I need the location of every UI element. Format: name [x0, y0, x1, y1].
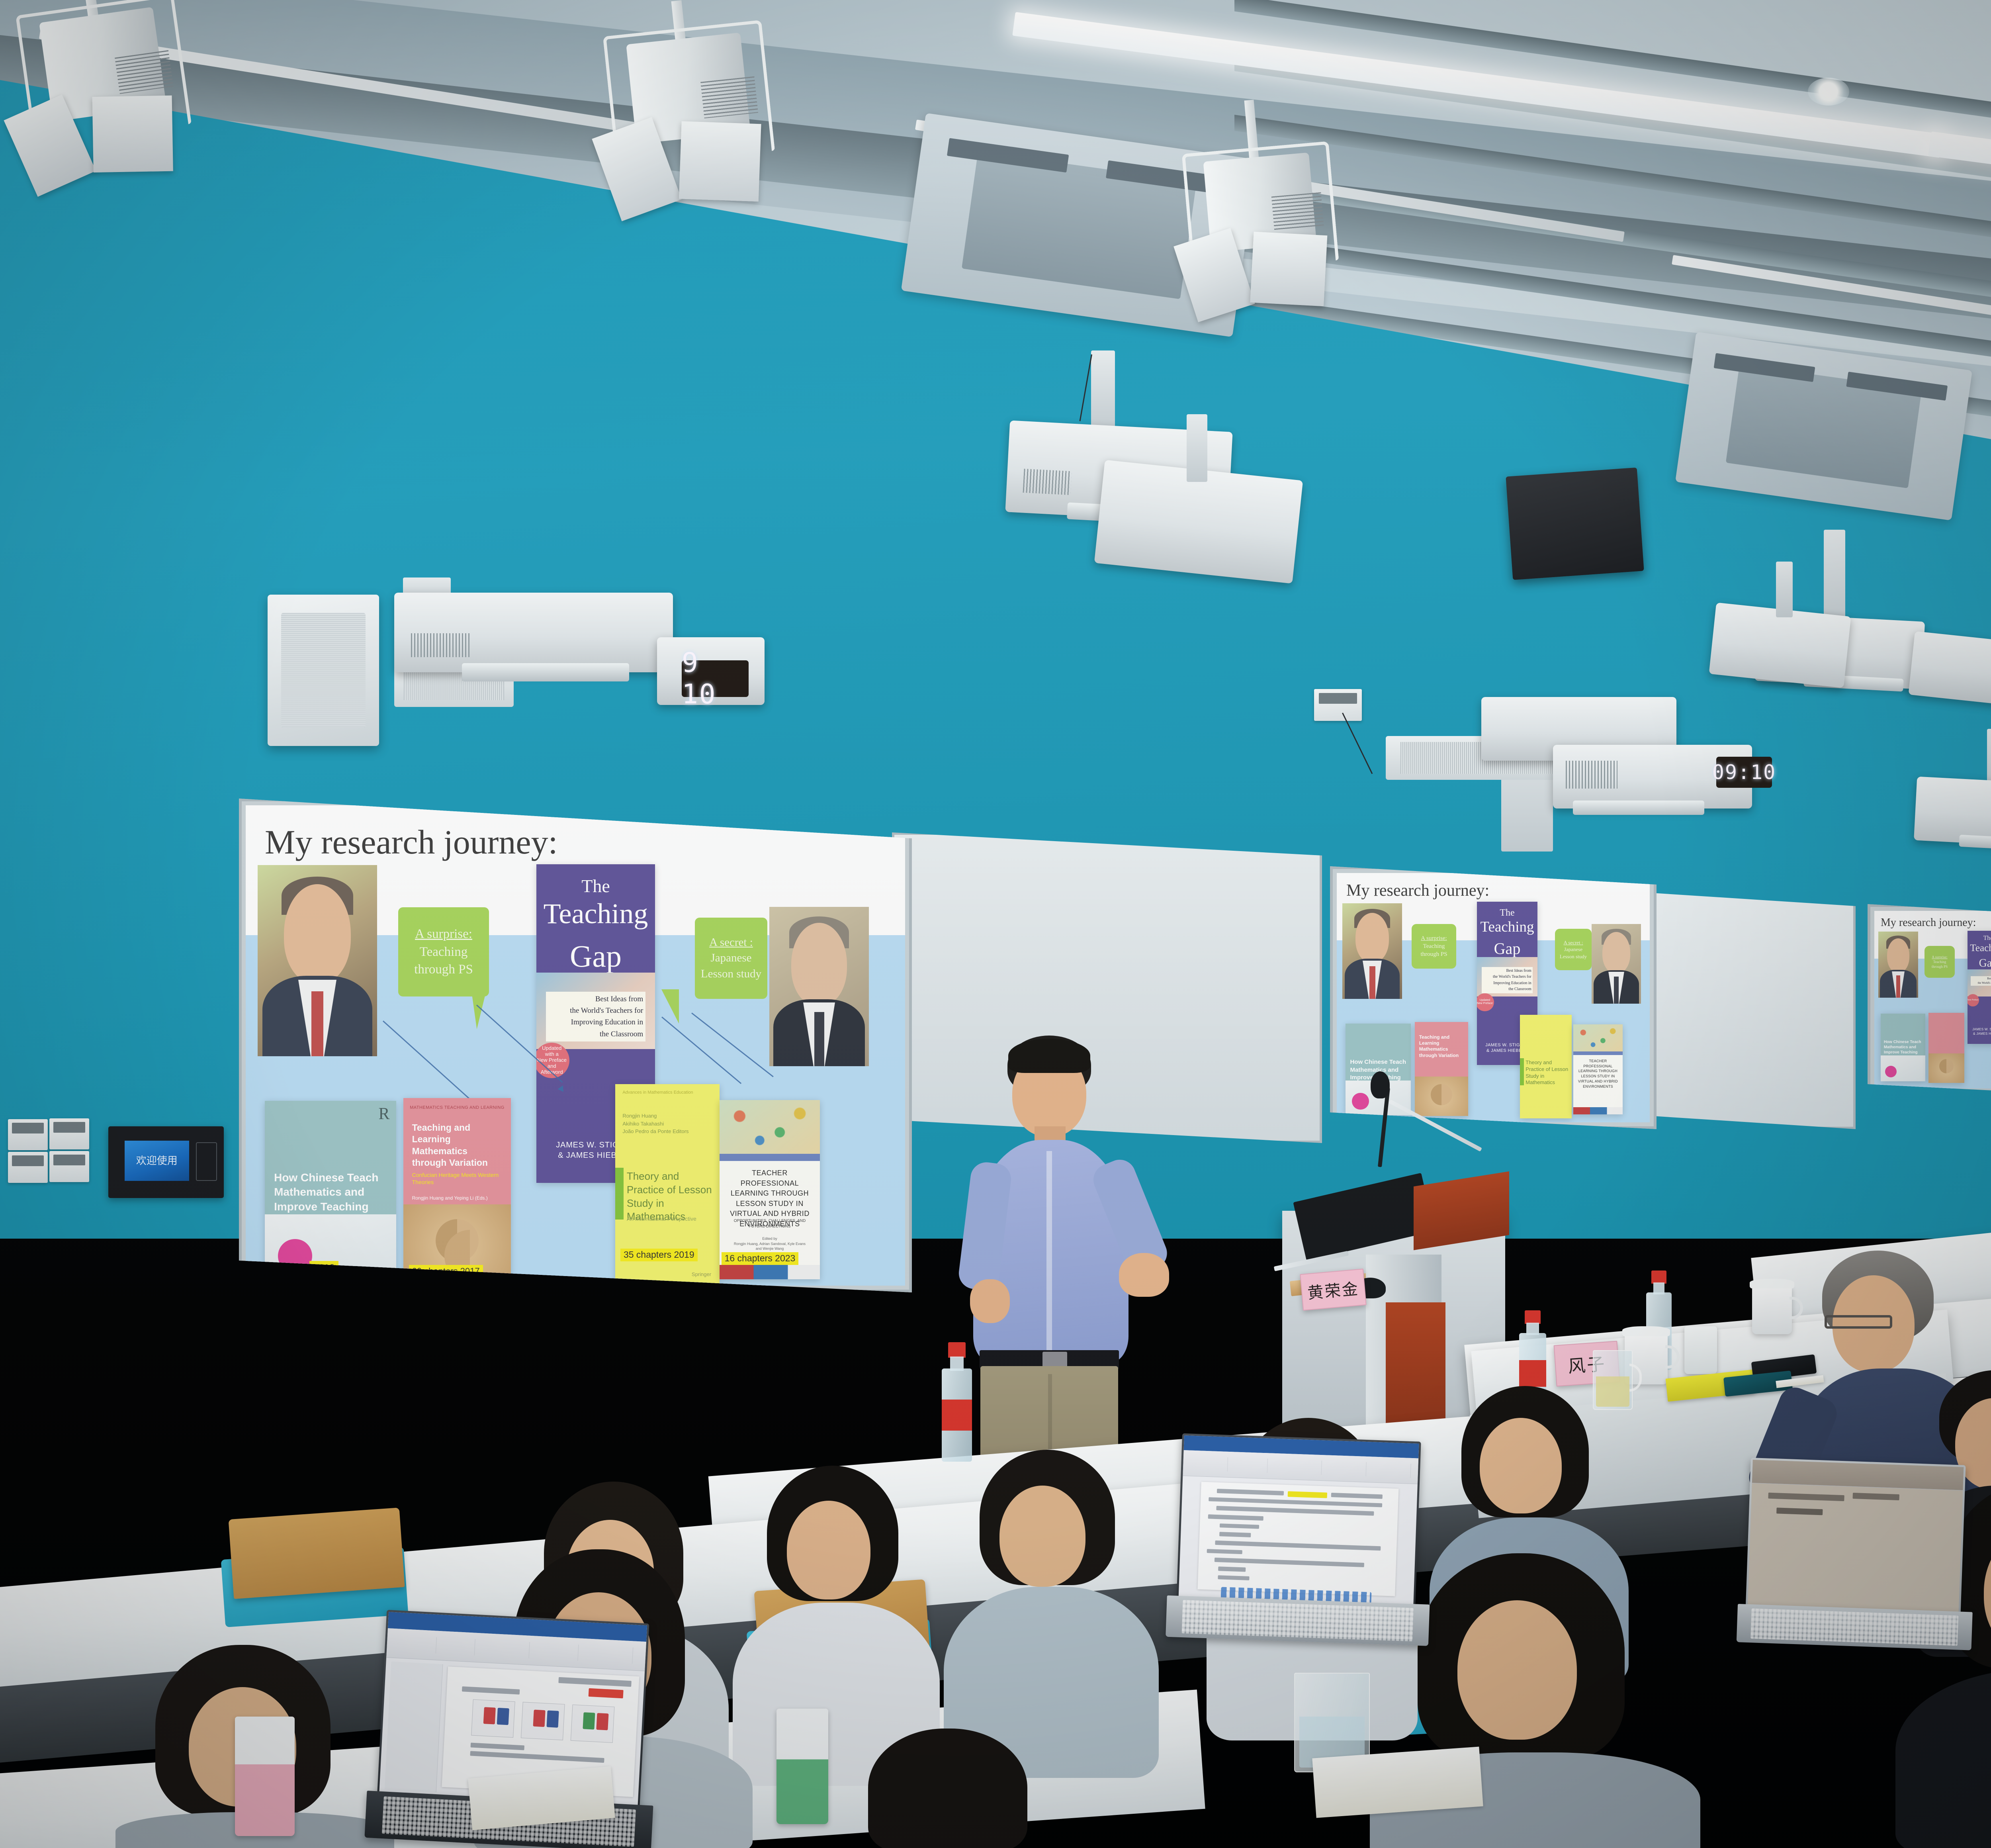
- slide-3-callout-left: A surprise: Teaching through PS: [1925, 946, 1955, 978]
- tg-sub-1: Best Ideas from: [548, 993, 643, 1005]
- studio-light-1: [16, 0, 192, 146]
- water-bottle-presenter: [940, 1342, 974, 1462]
- slide-3-headshot-left: [1878, 932, 1918, 998]
- presenter-hand-right: [1119, 1253, 1169, 1297]
- slide-book-teacher-professional: TEACHER PROFESSIONAL LEARNING THROUGH LE…: [720, 1100, 820, 1279]
- slide-headshot-left: [258, 865, 377, 1056]
- tg-sub-3: Improving Education in: [548, 1016, 643, 1028]
- callout-right-line3: Lesson study: [701, 966, 761, 982]
- slide-2-tgsub-3: Improving Education in: [1483, 980, 1531, 987]
- thermos-pink-front-left: [235, 1717, 295, 1836]
- vr-subtitle: Confucian Heritage Meets Western Theorie…: [412, 1171, 503, 1186]
- vr-series: MATHEMATICS TEACHING AND LEARNING: [410, 1105, 505, 1110]
- slide-3-book-hc: How Chinese Teach Mathematics and Improv…: [1881, 1014, 1925, 1081]
- slide-headshot-right: [769, 907, 869, 1066]
- ceiling-camera-box-3: [1908, 631, 1991, 707]
- slide-3-cl-1: A surprise:: [1932, 955, 1947, 959]
- av-control-screen-text: 欢迎使用: [136, 1154, 178, 1167]
- slide-2-callout-right-3: Lesson study: [1560, 953, 1587, 960]
- slide-3-cl-2: Teaching: [1933, 959, 1946, 964]
- slide-3-tgs-2: the World's Teachers for: [1971, 981, 1991, 985]
- hc-publisher-mark: R: [378, 1104, 389, 1124]
- laptop-center-highlight: [1288, 1491, 1328, 1498]
- slide-3-tg-3: Gap: [1968, 958, 1991, 969]
- tg-badge-2: with a: [545, 1051, 559, 1057]
- slide-book-variation: MATHEMATICS TEACHING AND LEARNING Teachi…: [403, 1098, 511, 1281]
- ls-subtitle: An International Perspective: [627, 1216, 716, 1222]
- projector-clock-center: 09:10: [1716, 757, 1772, 788]
- presenter-belt-buckle: [1042, 1352, 1067, 1368]
- slide-2-ls-title: Theory and Practice of Lesson Study in M…: [1526, 1059, 1570, 1086]
- slide-2-tg-1: The: [1477, 908, 1537, 918]
- projection-screen-3: My research journey: A surprise: Teachin…: [1868, 904, 1991, 1095]
- ceiling-speaker-black-1: [1506, 468, 1644, 580]
- slide-3-cl-3: through PS: [1932, 964, 1948, 969]
- slide-2-book-lesson-study: Theory and Practice of Lesson Study in M…: [1520, 1015, 1572, 1118]
- slide-callout-right: A secret : Japanese Lesson study: [695, 918, 767, 999]
- projector-clock-left: 9 10: [682, 660, 749, 697]
- callout-left-line1: A surprise:: [415, 925, 472, 943]
- tg-title-line2: Teaching: [536, 899, 655, 928]
- laptop-center-screen[interactable]: [1179, 1435, 1419, 1607]
- slide-3-tgs-1: Best Ideas from: [1971, 977, 1991, 981]
- projection-screen-main: My research journey: A surprise: Teachin…: [239, 799, 912, 1292]
- slide-main: My research journey: A surprise: Teachin…: [246, 805, 905, 1286]
- audience-member-front-7: [848, 1729, 1055, 1848]
- ceiling-camera-stem-2: [1776, 562, 1793, 617]
- slide-2-headshot-right: [1592, 924, 1641, 1004]
- vr-year: 20 chapters 2017: [409, 1265, 483, 1277]
- ls-year: 35 chapters 2019: [620, 1249, 697, 1261]
- slide-2-tg-2: Teaching: [1477, 920, 1537, 934]
- slide-3-badge: New Preface: [1968, 999, 1979, 1002]
- tg-sub-4: the Classroom: [548, 1028, 643, 1040]
- slide-3-book-teaching-gap: The Teaching Gap Best Ideas from the Wor…: [1968, 931, 1991, 1044]
- tg-title-line1: The: [536, 877, 655, 895]
- vr-title: Teaching and Learning Mathematics throug…: [412, 1122, 503, 1169]
- floor-microphone: [1362, 1071, 1398, 1167]
- tp-subtitle: OPPORTUNITIES, CHALLENGES, AND FUTURE DI…: [728, 1218, 812, 1229]
- av-control-screen[interactable]: 欢迎使用: [125, 1141, 189, 1181]
- audience-glasses-grey: [1825, 1315, 1892, 1329]
- hc-year: 2012: [309, 1261, 338, 1275]
- projector-assembly-far-right: 09:10: [1895, 769, 1991, 896]
- slide-3-hc-title: How Chinese Teach Mathematics and Improv…: [1884, 1039, 1922, 1055]
- slide-2-callout-left-2: Teaching: [1423, 942, 1445, 950]
- slide-2-tp-title: TEACHER PROFESSIONAL LEARNING THROUGH LE…: [1576, 1059, 1619, 1089]
- slide-2-title: My research journey:: [1346, 881, 1489, 900]
- slide-2-callout-left: A surprise: Teaching through PS: [1412, 924, 1456, 969]
- tg-badge-1: Updated: [542, 1045, 561, 1051]
- laptop-center[interactable]: [1175, 1433, 1445, 1658]
- slide-2-callout-left-3: through PS: [1420, 950, 1447, 958]
- tg-title-line3: Gap: [536, 941, 655, 972]
- laptop-center-base[interactable]: [1166, 1595, 1430, 1646]
- slide-2-headshot-left: [1342, 903, 1402, 999]
- slide-2-book-teacher-prof: TEACHER PROFESSIONAL LEARNING THROUGH LE…: [1573, 1024, 1623, 1114]
- chair-back-7[interactable]: [229, 1507, 405, 1599]
- slide-3: My research journey: A surprise: Teachin…: [1874, 911, 1991, 1088]
- laptop-mid-right[interactable]: [1744, 1458, 1985, 1657]
- studio-light-3: [1182, 141, 1339, 273]
- light-switch-1[interactable]: [8, 1119, 48, 1150]
- slide-callout-left: A surprise: Teaching through PS: [398, 907, 489, 996]
- lectern-panel-front: [1386, 1302, 1445, 1434]
- wall-speaker-left: [268, 595, 379, 746]
- laptop-center-lid: [1176, 1433, 1421, 1609]
- audience-member-row3-5: [956, 1450, 1147, 1776]
- laptop-mid-right-screen[interactable]: [1748, 1460, 1964, 1614]
- lectern-nameplate: 黄荣金: [1300, 1269, 1366, 1311]
- slide-3-auth-2: & JAMES HIEBERT: [1968, 1032, 1991, 1036]
- slide-book-lesson-study: Advances in Mathematics Education Rongji…: [615, 1084, 720, 1283]
- lecture-hall-scene: 9 10 09:10 09:10: [0, 0, 1991, 1848]
- callout-right-line1: A secret :: [709, 935, 753, 950]
- callout-left-line3: through PS: [414, 961, 473, 979]
- ls-springer: Springer: [692, 1271, 711, 1277]
- ceiling-downlight-4: [1808, 78, 1849, 106]
- slide-3-book-vr: [1928, 1013, 1964, 1083]
- slide-2-tg-3: Gap: [1477, 941, 1537, 957]
- slide-2-tgsub-1: Best Ideas from: [1483, 968, 1531, 974]
- light-switch-2[interactable]: [49, 1118, 89, 1149]
- hc-title: How Chinese Teach Mathematics and Improv…: [274, 1171, 387, 1214]
- tg-badge-4: and: [548, 1063, 556, 1069]
- thermos-green-front: [776, 1709, 828, 1824]
- slide-2-book-variation: Teaching and Learning Mathematics throug…: [1415, 1022, 1468, 1116]
- tp-editors: Edited by Rongjin Huang, Adrian Sandoval…: [728, 1236, 812, 1251]
- light-switch-4[interactable]: [49, 1151, 89, 1182]
- slide-2-callout-left-1: A surprise:: [1421, 934, 1447, 942]
- presenter-hand-left: [970, 1279, 1010, 1323]
- studio-light-2: [603, 20, 775, 167]
- light-switch-3[interactable]: [8, 1152, 48, 1183]
- slide-3-tg-1: The: [1968, 935, 1991, 942]
- laptop-mid-right-base[interactable]: [1737, 1604, 1973, 1650]
- vr-authors: Rongjin Huang and Yeping Li (Eds.): [412, 1195, 503, 1201]
- slide-2-vr-title: Teaching and Learning Mathematics throug…: [1419, 1034, 1464, 1059]
- slide-3-tg-2: Teaching: [1968, 943, 1991, 953]
- slide-3-auth-1: JAMES W. STIGLER: [1968, 1028, 1991, 1032]
- slide-2-badge-1: Updated: [1480, 999, 1490, 1002]
- teacup-front-2: [1752, 1286, 1792, 1334]
- av-control-panel[interactable]: 欢迎使用: [108, 1126, 224, 1198]
- handout-papers-2[interactable]: [1312, 1747, 1483, 1818]
- slide-title: My research journey:: [265, 822, 558, 862]
- callout-right-line2: Japanese: [710, 950, 751, 966]
- tp-year: 16 chapters 2023: [722, 1252, 798, 1265]
- projector-assembly-left: 9 10: [382, 577, 828, 769]
- slide-book-how-chinese: R How Chinese Teach Mathematics and Impr…: [265, 1101, 396, 1284]
- presenter: [948, 1032, 1226, 1470]
- paper-cup-front: [1684, 1326, 1717, 1374]
- slide-2-callout-right-2: Japanese: [1564, 946, 1582, 953]
- presenter-hair-front: [1008, 1039, 1090, 1073]
- ls-publisher: Advances in Mathematics Education: [622, 1090, 712, 1095]
- slide-2-callout-right: A secret : Japanese Lesson study: [1555, 929, 1592, 970]
- callout-left-line2: Teaching: [420, 943, 467, 961]
- slide-2-tgsub-4: the Classroom: [1483, 986, 1531, 993]
- av-control-buttons[interactable]: [196, 1142, 217, 1181]
- laptop-mid-right-lid: [1746, 1458, 1966, 1617]
- ls-editors: Rongjin Huang Akihiko Takahashi João Ped…: [622, 1112, 712, 1135]
- slide-2-callout-right-1: A secret :: [1563, 939, 1583, 946]
- slide-2-tgsub-2: the World's Teachers for: [1483, 974, 1531, 980]
- tg-sub-2: the World's Teachers for: [548, 1005, 643, 1016]
- slide-2-badge-3: New Preface: [1477, 1002, 1493, 1005]
- slide-3-title: My research journey:: [1881, 916, 1976, 929]
- presenter-shirt-placket: [1046, 1151, 1052, 1358]
- ceiling-camera-stem-1: [1187, 414, 1207, 482]
